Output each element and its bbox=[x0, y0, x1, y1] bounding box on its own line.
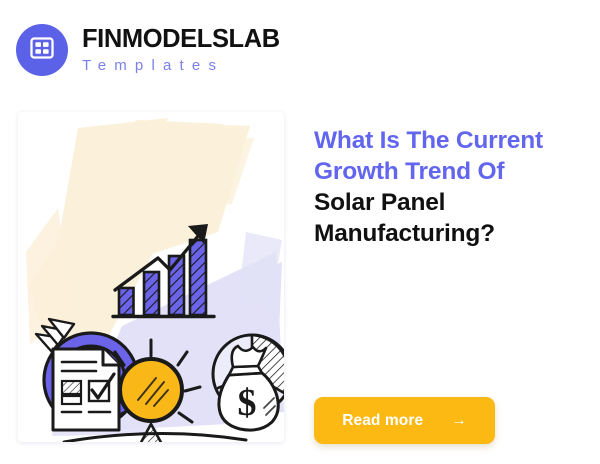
headline-block: What Is The Current Growth Trend Of Sola… bbox=[314, 126, 586, 249]
brand-name: FINMODELSLAB bbox=[82, 27, 280, 53]
headline-line-2: Growth Trend Of bbox=[314, 157, 586, 188]
headline-line-4: Manufacturing? bbox=[314, 219, 586, 250]
brand-logo-mark bbox=[16, 24, 68, 76]
poster-canvas: FINMODELSLAB Templates bbox=[0, 0, 600, 464]
headline-line-3: Solar Panel bbox=[314, 188, 586, 219]
brand-header: FINMODELSLAB Templates bbox=[16, 24, 280, 76]
page-title: What Is The Current Growth Trend Of Sola… bbox=[314, 126, 586, 249]
svg-text:$: $ bbox=[238, 382, 257, 424]
illustration-card: $ bbox=[18, 112, 284, 442]
headline-line-1: What Is The Current bbox=[314, 126, 586, 157]
read-more-button[interactable]: Read more → bbox=[314, 397, 495, 444]
grid-squares-icon bbox=[27, 33, 57, 68]
business-analytics-illustration: $ bbox=[18, 112, 284, 442]
arrow-right-icon: → bbox=[451, 413, 467, 429]
document-with-checkmark bbox=[53, 349, 119, 430]
read-more-label: Read more bbox=[342, 412, 423, 430]
brand-tagline: Templates bbox=[82, 58, 280, 73]
brand-wordmark: FINMODELSLAB Templates bbox=[82, 27, 280, 74]
